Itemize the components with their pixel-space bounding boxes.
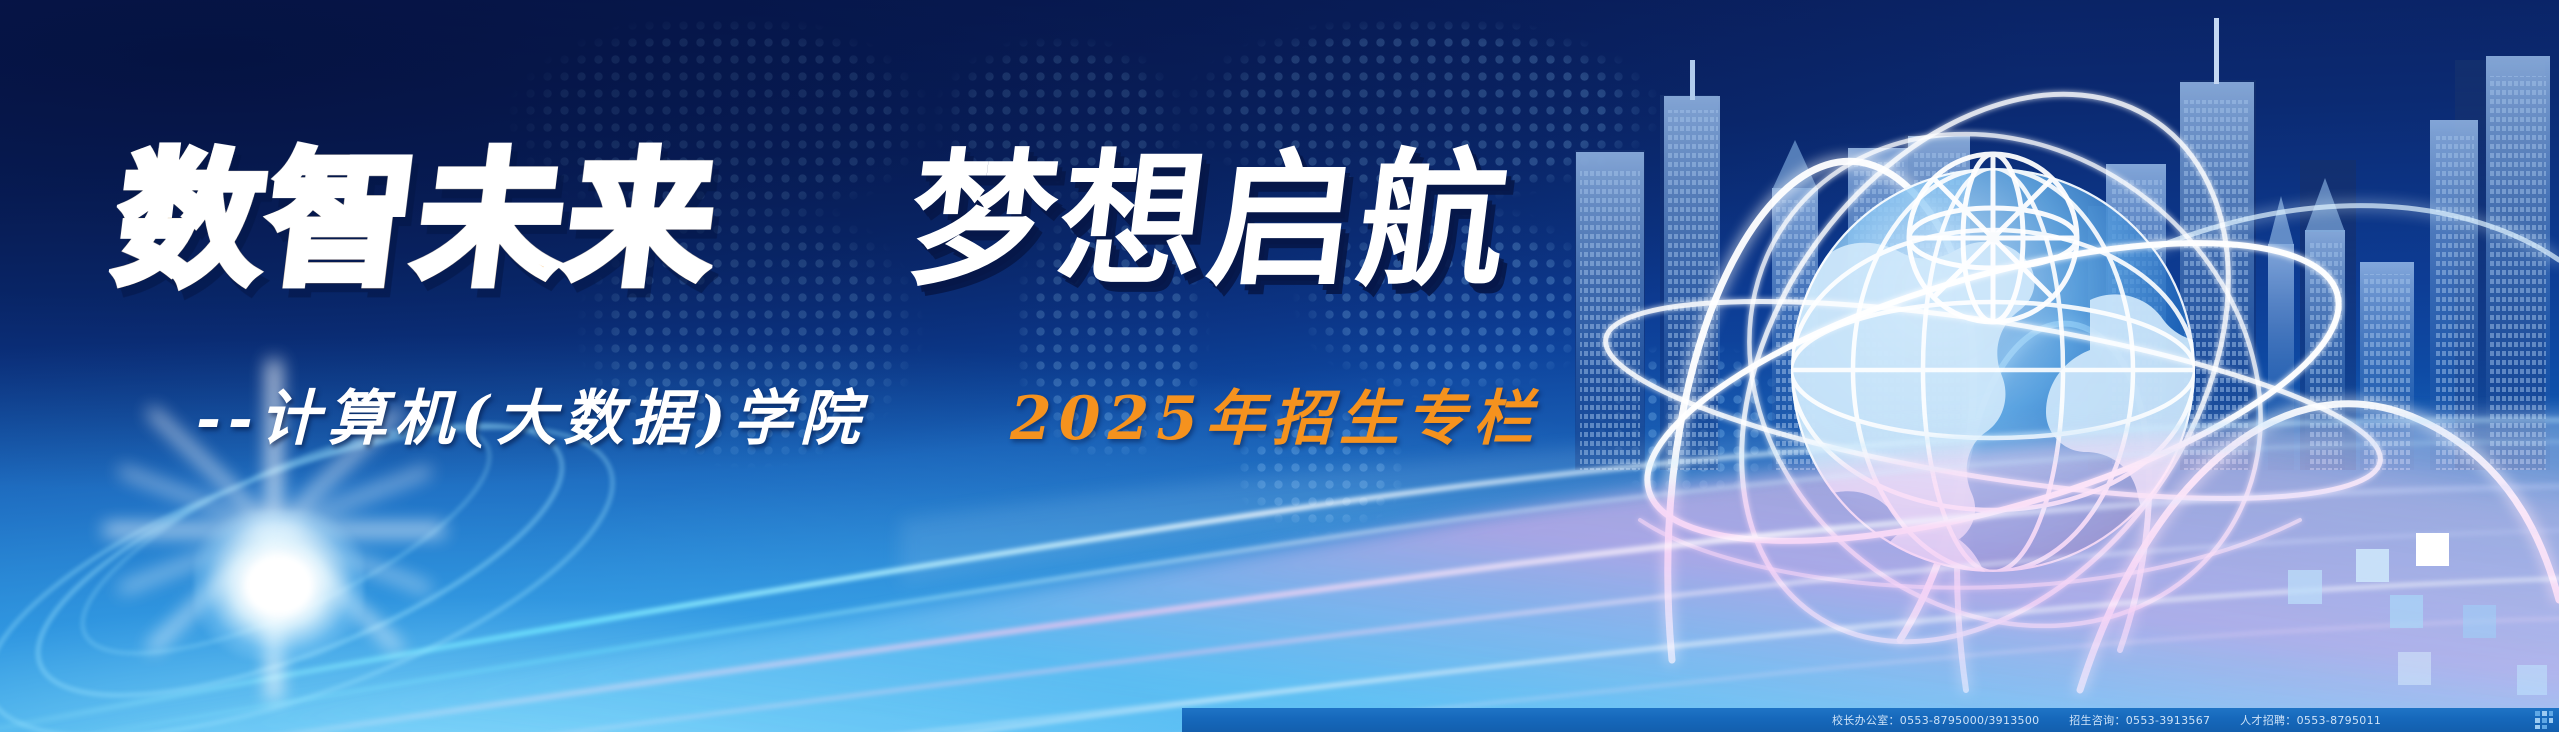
contact-office: 校长办公室：0553-8795000/3913500 bbox=[1832, 714, 2039, 727]
headline-group: 数智未来 梦想启航 --计算机(大数据)学院 2025年招生专栏 bbox=[0, 0, 2559, 732]
contact-recruitment: 人才招聘：0553-8795011 bbox=[2240, 714, 2381, 727]
pixel-brick-icon bbox=[2535, 711, 2553, 729]
headline-secondary: 梦想启航 bbox=[901, 148, 1519, 294]
recruitment-banner: 数智未来 梦想启航 --计算机(大数据)学院 2025年招生专栏 校长办公室：0… bbox=[0, 0, 2559, 732]
bottom-bar: 校长办公室：0553-8795000/3913500 招生咨询：0553-391… bbox=[1182, 708, 2559, 732]
contact-admissions: 招生咨询：0553-3913567 bbox=[2069, 714, 2210, 727]
contact-info: 校长办公室：0553-8795000/3913500 招生咨询：0553-391… bbox=[1832, 712, 2407, 728]
headline-primary: 数智未来 bbox=[109, 148, 727, 294]
subtitle-college: --计算机(大数据)学院 bbox=[196, 370, 867, 457]
subtitle-admissions: 2025年招生专栏 bbox=[1010, 370, 1540, 457]
